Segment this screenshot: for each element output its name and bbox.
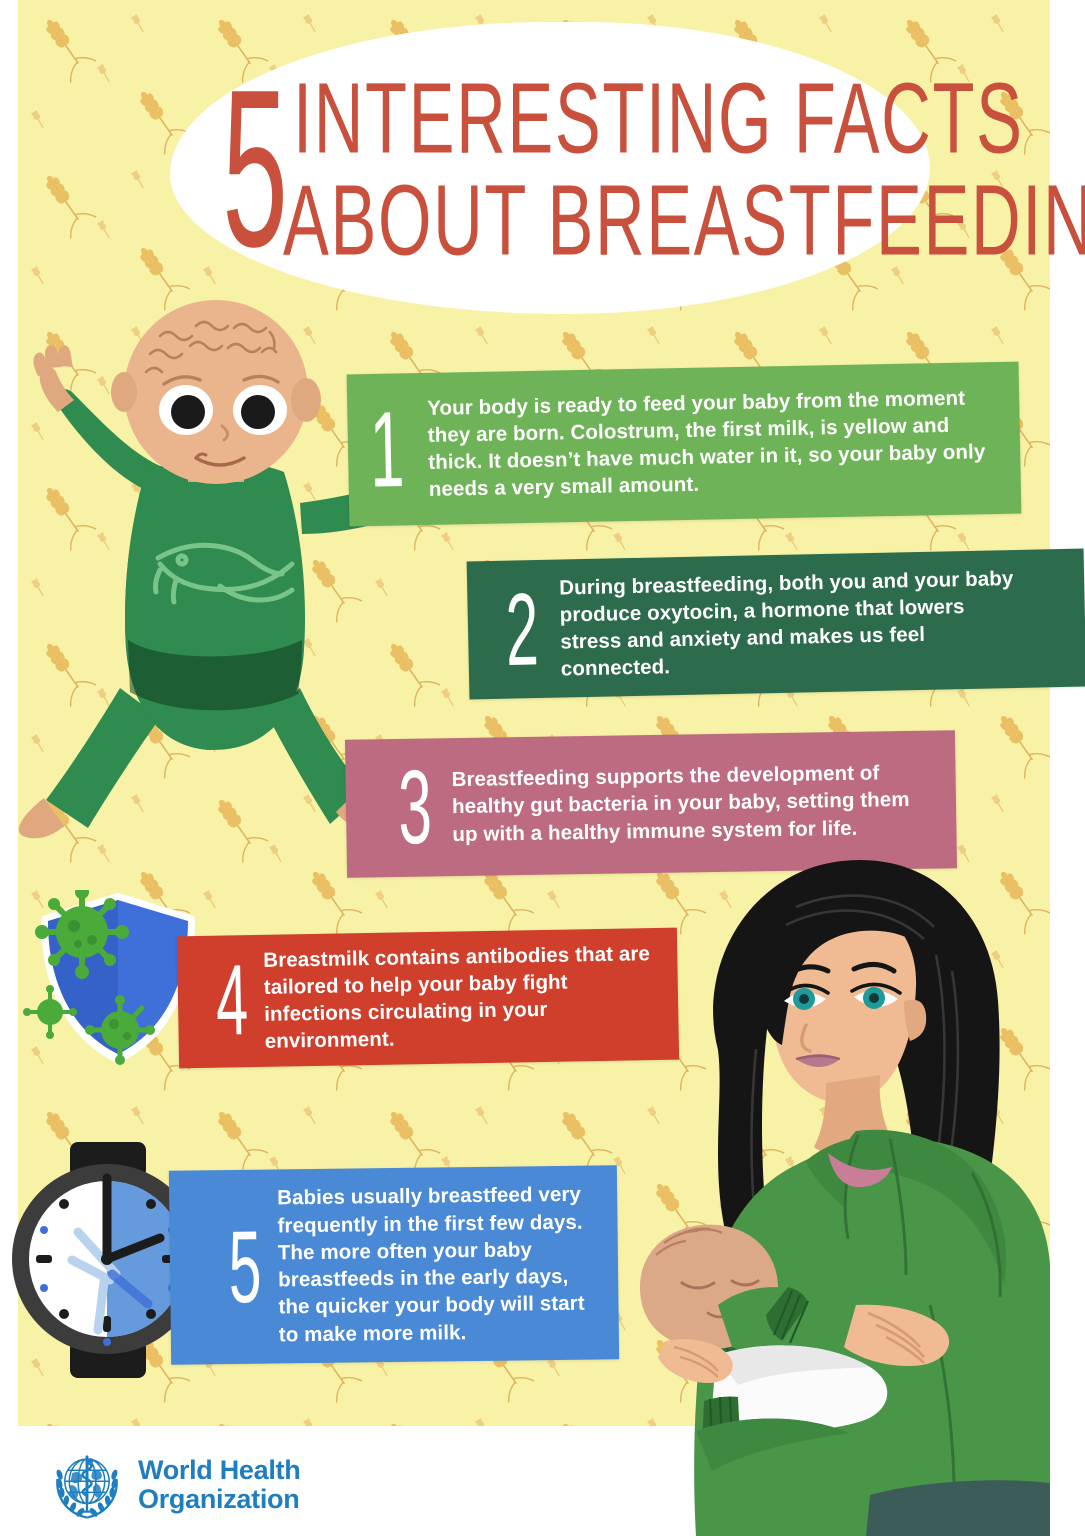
fact-number-2: 2 [501, 578, 542, 681]
who-logo-line-2: Organization [138, 1485, 300, 1514]
fact-number-1: 1 [366, 396, 409, 504]
fact-item-2: 2 During breastfeeding, both you and you… [467, 549, 1085, 700]
fact-text-2: During breastfeeding, both you and your … [559, 564, 1021, 683]
fact-number-3: 3 [395, 755, 434, 861]
title-line-1: INTERESTING FACTS [293, 69, 1085, 169]
who-logo-line-1: World Health [138, 1456, 300, 1485]
fact-text-5: Babies usually breastfeed very frequentl… [277, 1181, 589, 1348]
title-number: 5 [222, 78, 285, 262]
who-logo-text: World Health Organization [138, 1456, 300, 1514]
who-emblem-icon [50, 1448, 124, 1522]
fact-number-5: 5 [227, 1215, 263, 1318]
title-line-2: ABOUT BREASTFEEDING [283, 171, 1085, 271]
fact-item-1: 1 Your body is ready to feed your baby f… [347, 362, 1022, 527]
infographic-poster: 5 INTERESTING FACTS ABOUT BREASTFEEDING [0, 0, 1085, 1536]
page-title: 5 INTERESTING FACTS ABOUT BREASTFEEDING [185, 30, 925, 310]
who-logo: World Health Organization [50, 1448, 300, 1522]
fact-number-4: 4 [213, 951, 251, 1052]
fact-text-1: Your body is ready to feed your baby fro… [427, 384, 989, 504]
fact-item-5: 5 Babies usually breastfeed very frequen… [169, 1165, 619, 1364]
mother-holding-newborn-illustration [600, 835, 1050, 1536]
